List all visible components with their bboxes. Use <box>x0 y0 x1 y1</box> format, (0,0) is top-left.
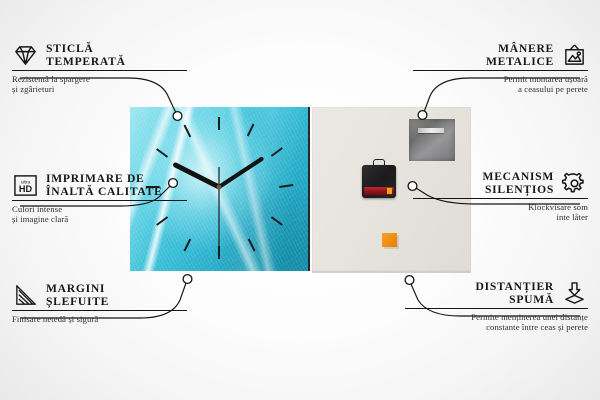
feature-sticla-temperata: STICLĂTEMPERATĂ Rezistentă la spargereși… <box>12 42 187 95</box>
spacer-stack-icon <box>561 281 588 306</box>
feature-title: MARGINIȘLEFUITE <box>46 282 109 308</box>
feature-description: Rezistentă la spargereși zgârieturi <box>12 74 187 95</box>
feature-divider <box>12 310 187 311</box>
picture-hanger-icon <box>561 43 588 68</box>
ultra-hd-icon: ultra HD <box>12 173 39 198</box>
foam-spacer-part <box>382 233 397 247</box>
feature-heading: MECANISMSILENȚIOS <box>413 170 588 196</box>
feature-heading: ultra HD IMPRIMARE DEÎNALTĂ CALITATE <box>12 172 187 198</box>
battery-plus-terminal <box>387 188 392 194</box>
feature-title: STICLĂTEMPERATĂ <box>46 42 126 68</box>
diamond-icon <box>12 43 39 68</box>
feature-divider <box>405 308 588 309</box>
feature-heading: DISTANȚIERSPUMĂ <box>405 280 588 306</box>
svg-text:HD: HD <box>19 184 33 194</box>
hanger-slot <box>418 128 444 133</box>
feature-description: Permite menținerea unei distanțeconstant… <box>405 312 588 333</box>
feature-heading: STICLĂTEMPERATĂ <box>12 42 187 68</box>
feature-description: Klockvisare sominte låter <box>413 202 588 223</box>
quartz-mechanism-part <box>362 165 396 198</box>
battery <box>364 187 394 195</box>
feature-title: DISTANȚIERSPUMĂ <box>476 280 555 306</box>
metal-hanger-part <box>409 119 455 161</box>
feature-description: Culori intenseși imagine clară <box>12 204 187 225</box>
feature-divider <box>413 198 588 199</box>
feature-description: Finisare netedă și sigură <box>12 314 187 324</box>
feature-description: Permit montarea ușoarăa ceasului pe pere… <box>413 74 588 95</box>
feature-margini-slefuite: MARGINIȘLEFUITE Finisare netedă și sigur… <box>12 282 187 324</box>
feature-divider <box>413 70 588 71</box>
feature-heading: MARGINIȘLEFUITE <box>12 282 187 308</box>
beveled-edge-icon <box>12 283 39 308</box>
feature-mecanism-silentios: MECANISMSILENȚIOS Klockvisare sominte lå… <box>413 170 588 223</box>
feature-divider <box>12 70 187 71</box>
feature-distantier-spuma: DISTANȚIERSPUMĂ Permite menținerea unei … <box>405 280 588 333</box>
feature-title: MÂNEREMETALICE <box>486 42 554 68</box>
feature-heading: MÂNEREMETALICE <box>413 42 588 68</box>
gear-icon <box>561 171 588 196</box>
infographic-canvas: STICLĂTEMPERATĂ Rezistentă la spargereși… <box>0 0 600 400</box>
mechanism-hang-loop <box>373 159 385 167</box>
feature-manere-metalice: MÂNEREMETALICE Permit montarea ușoarăa c… <box>413 42 588 95</box>
feature-title: IMPRIMARE DEÎNALTĂ CALITATE <box>46 172 163 198</box>
feature-divider <box>12 200 187 201</box>
feature-imprimare-calitate: ultra HD IMPRIMARE DEÎNALTĂ CALITATE Cul… <box>12 172 187 225</box>
feature-title: MECANISMSILENȚIOS <box>483 170 554 196</box>
